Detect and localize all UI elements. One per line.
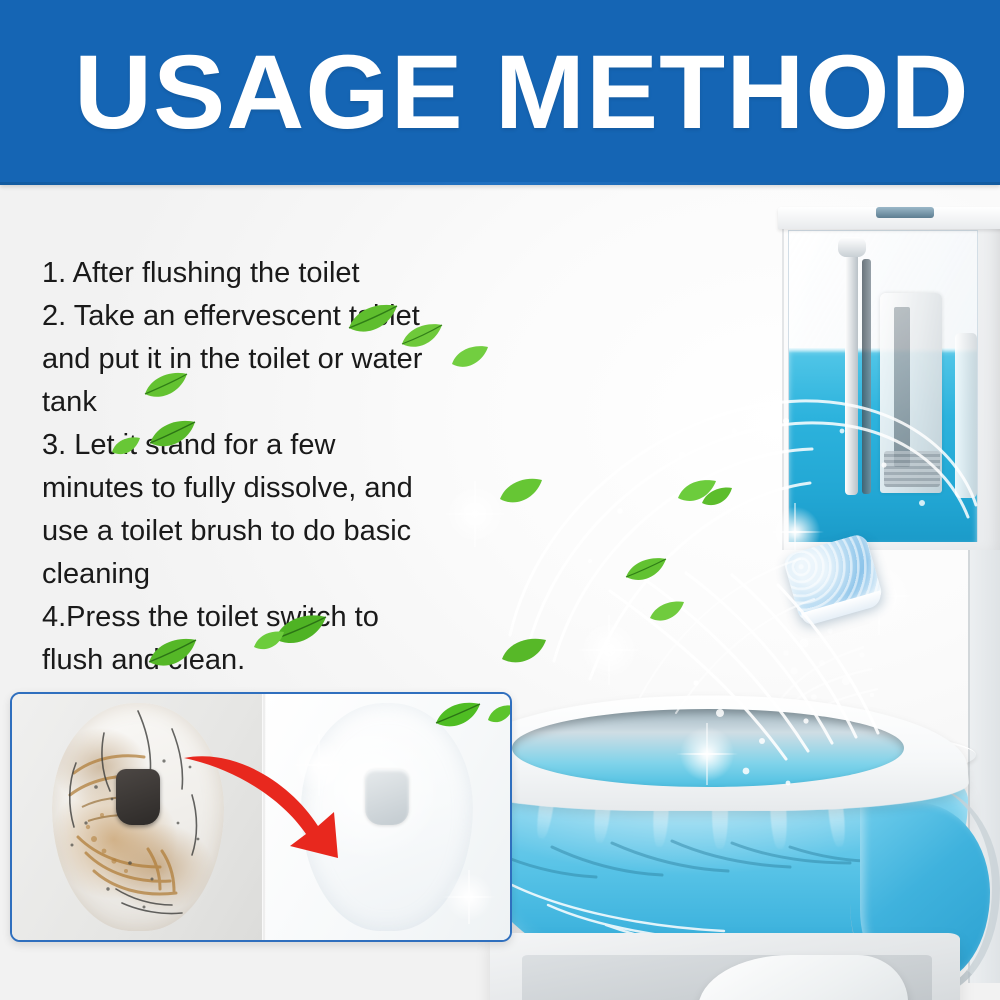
flush-button[interactable] bbox=[876, 207, 934, 218]
tank-overflow-tube bbox=[862, 259, 871, 494]
tank-fill-rod bbox=[845, 245, 858, 495]
instruction-line: 1. After flushing the toilet bbox=[42, 252, 472, 295]
toilet-seat-opening bbox=[512, 709, 904, 787]
tank-valve-base bbox=[884, 451, 940, 487]
instruction-line: flush and clean. bbox=[42, 639, 472, 682]
drain-plug-dirty bbox=[116, 769, 160, 825]
mint-leaf-icon bbox=[486, 704, 510, 728]
tank-valve-knob bbox=[838, 237, 866, 257]
instruction-line: 4.Press the toilet switch to bbox=[42, 596, 472, 639]
tank-side-tube bbox=[955, 333, 977, 498]
instruction-line: cleaning bbox=[42, 553, 472, 596]
instruction-line: 3. Let it stand for a few bbox=[42, 424, 472, 467]
instructions-block: 1. After flushing the toilet 2. Take an … bbox=[42, 252, 472, 682]
instruction-line: minutes to fully dissolve, and bbox=[42, 467, 472, 510]
infographic-canvas: USAGE METHOD bbox=[0, 0, 1000, 1000]
toilet-bowl-group bbox=[430, 503, 990, 983]
page-title: USAGE METHOD bbox=[74, 38, 960, 148]
instruction-line: use a toilet brush to do basic bbox=[42, 510, 472, 553]
instruction-line: tank bbox=[42, 381, 472, 424]
instruction-line: 2. Take an effervescent tablet bbox=[42, 295, 472, 338]
transformation-arrow-icon bbox=[178, 742, 368, 862]
header-banner: USAGE METHOD bbox=[0, 0, 1000, 185]
drain-plug-clean bbox=[365, 769, 409, 825]
instruction-line: and put it in the toilet or water bbox=[42, 338, 472, 381]
